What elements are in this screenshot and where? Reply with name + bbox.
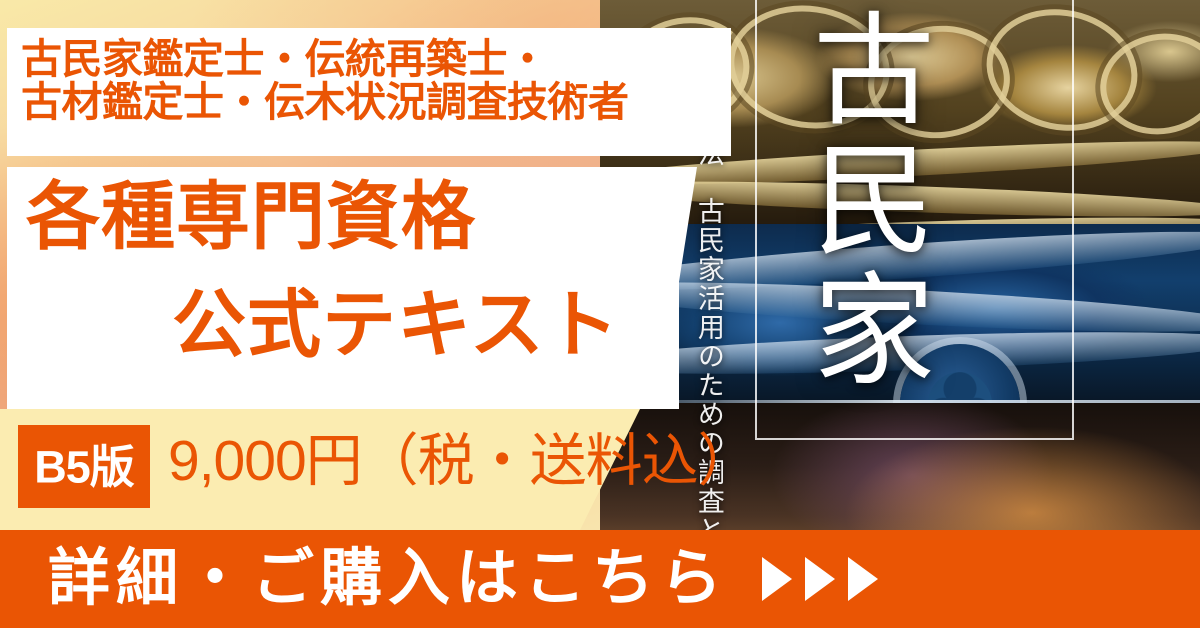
title-line-2: 公式テキスト [172,288,620,362]
triangle-right-icon [848,557,878,601]
triangle-right-icon [762,557,792,601]
promotional-banner: 古民家 伝統構法 古民家活用のための調査と再生の 古民家鑑定士・伝統再築士・ 古… [0,0,1200,628]
cta-arrows [762,557,878,601]
headline-line-2: 古材鑑定士・伝木状況調査技術者 [21,81,731,124]
cover-title: 古民家 [798,6,927,396]
price-label: 9,000円（税・送料込） [168,433,754,490]
cta-label: 詳細・ご購入はこちら [48,548,728,610]
triangle-right-icon [805,557,835,601]
size-badge-label: B5版 [18,444,150,489]
size-badge: B5版 [18,425,150,508]
title-line-1: 各種専門資格 [26,180,476,254]
headline-panel: 古民家鑑定士・伝統再築士・ 古材鑑定士・伝木状況調査技術者 [7,28,731,156]
headline-line-1: 古民家鑑定士・伝統再築士・ [21,38,731,81]
cta-bar[interactable]: 詳細・ご購入はこちら [0,530,1200,628]
